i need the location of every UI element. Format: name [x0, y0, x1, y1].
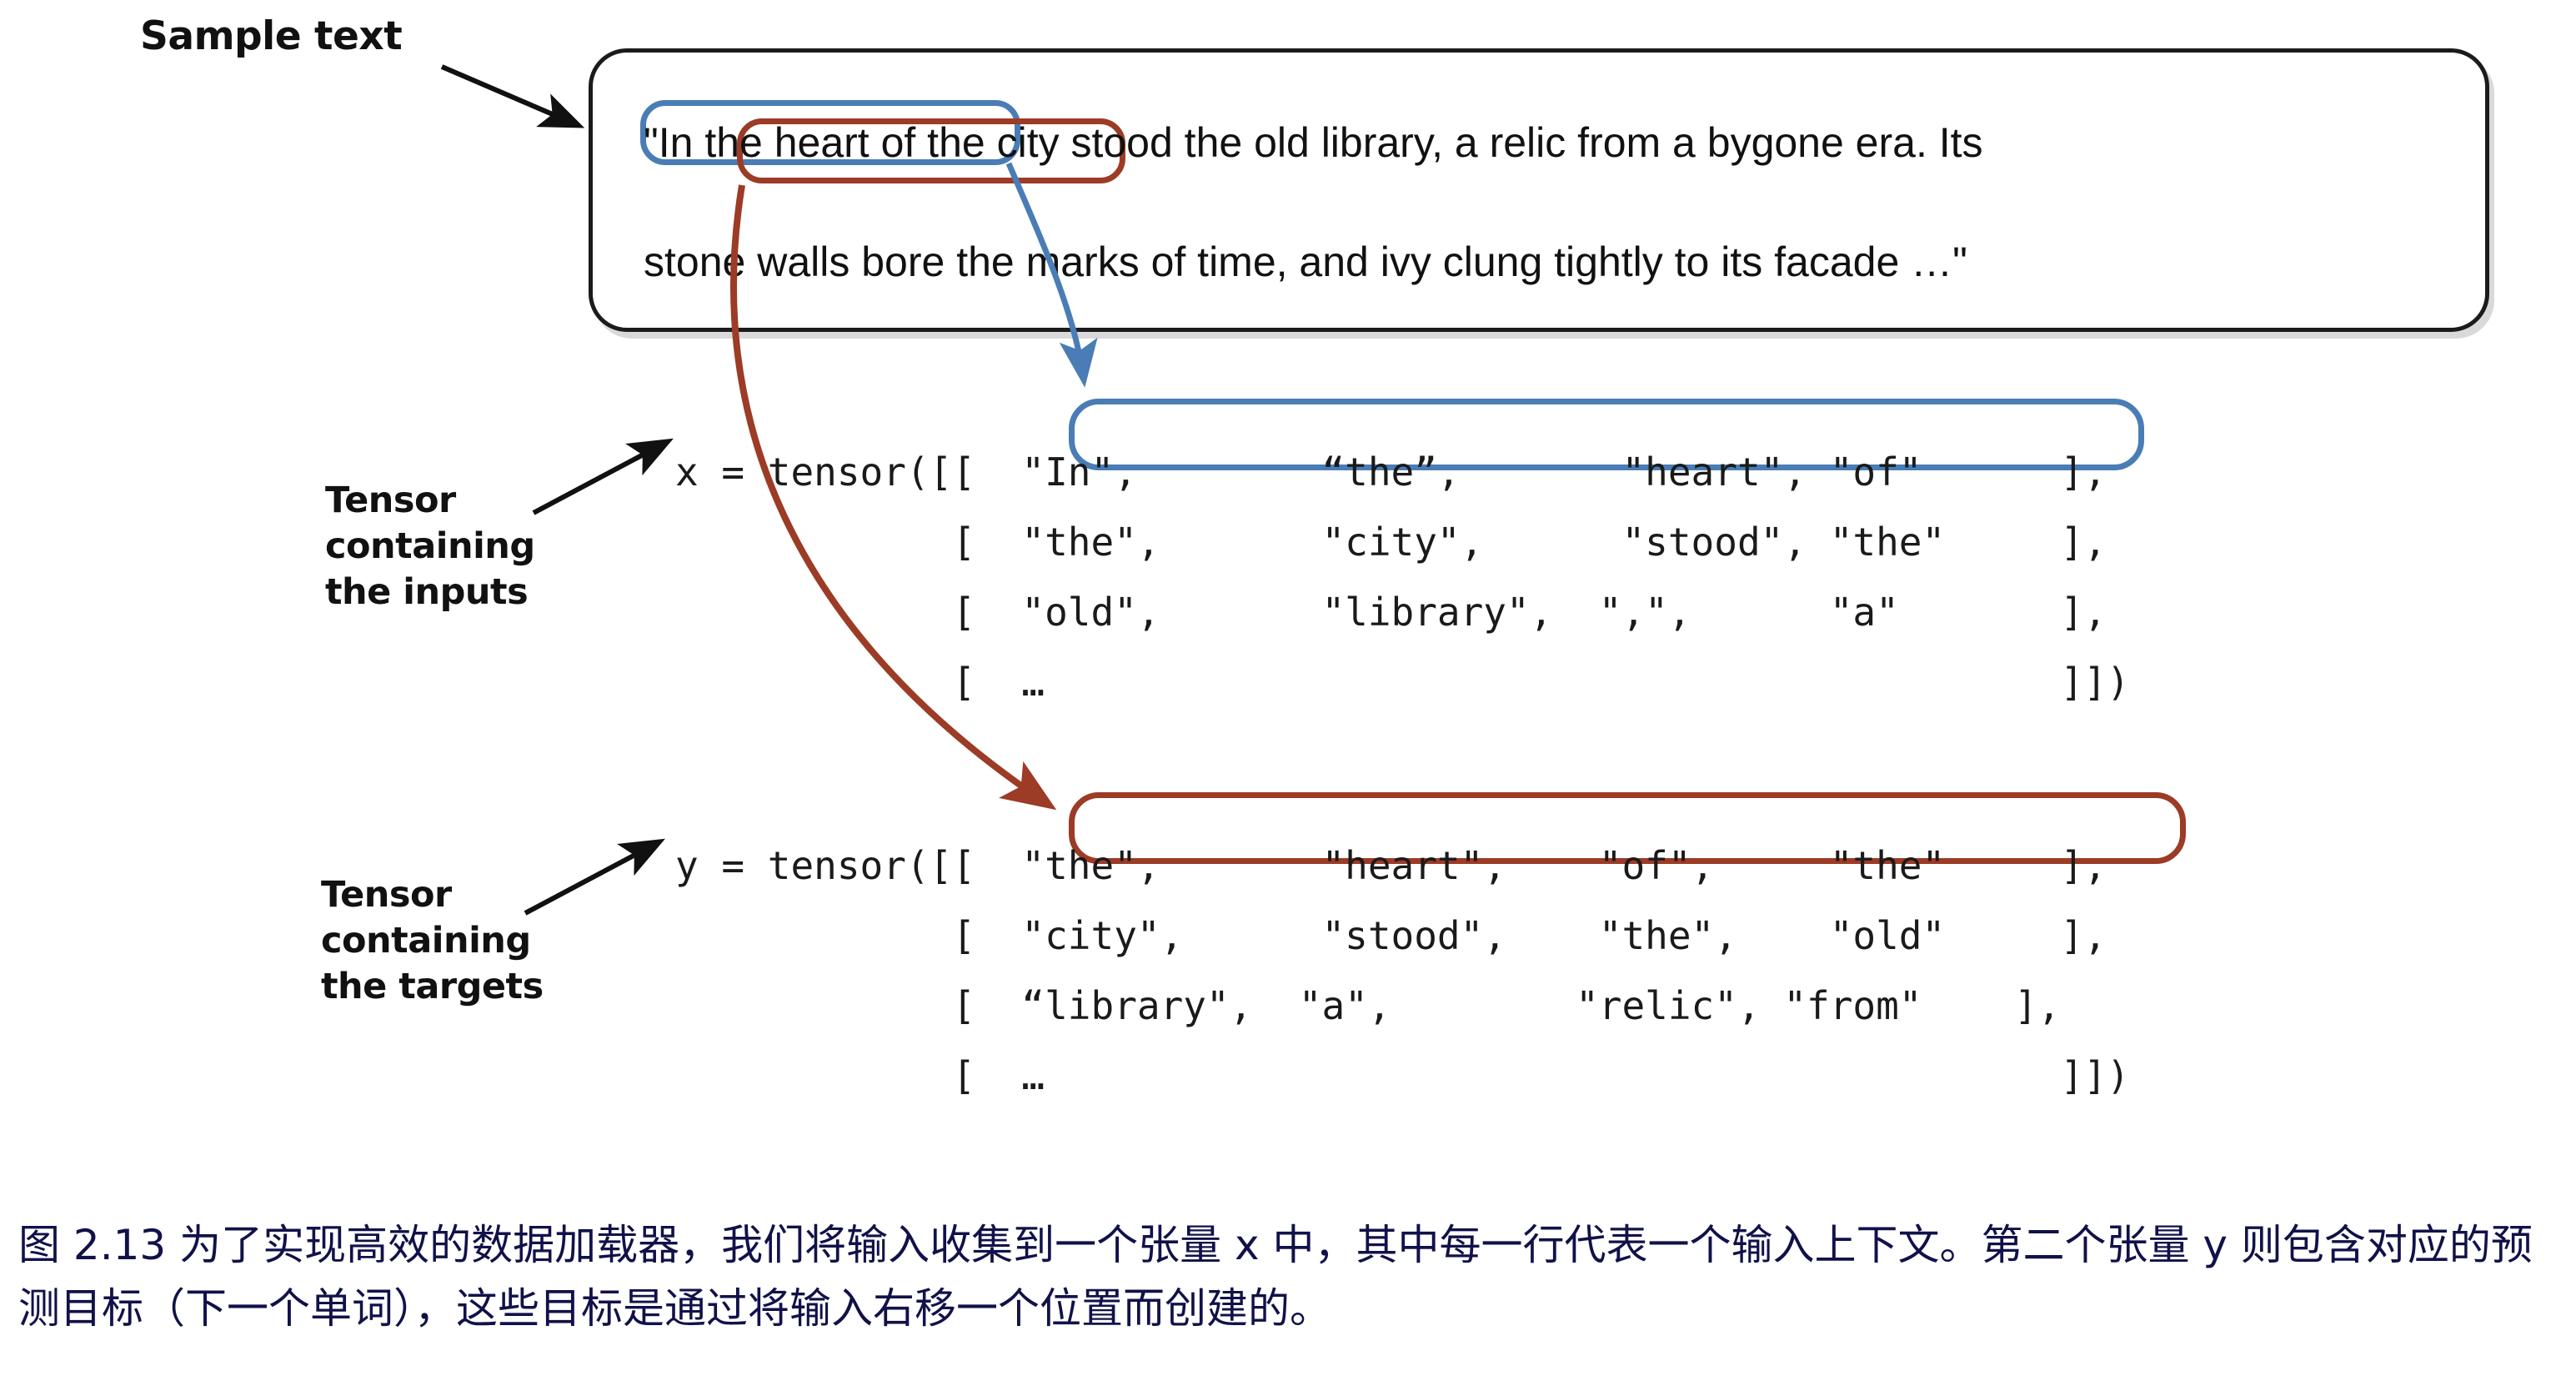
sample-text-label: Sample text: [140, 13, 402, 59]
sample-text-line-2: stone walls bore the marks of time, and …: [644, 238, 1967, 286]
tensor-inputs-label: Tensor containing the inputs: [325, 478, 535, 615]
arrow-inputs-label-to-x: [534, 442, 667, 513]
sample-text-line-1: "In the heart of the city stood the old …: [644, 118, 1983, 167]
tensor-targets-label: Tensor containing the targets: [321, 872, 544, 1010]
figure-caption: 图 2.13 为了实现高效的数据加载器，我们将输入收集到一个张量 x 中，其中每…: [18, 1213, 2561, 1340]
arrow-sample-text-to-box: [442, 67, 578, 125]
arrow-targets-label-to-y: [525, 842, 659, 913]
tensor-x-code: x = tensor([[ "In", “the”, "heart", "of"…: [675, 437, 2130, 717]
tensor-y-code: y = tensor([[ "the", "heart", "of", "the…: [675, 831, 2130, 1111]
sample-text-box: [589, 48, 2489, 332]
